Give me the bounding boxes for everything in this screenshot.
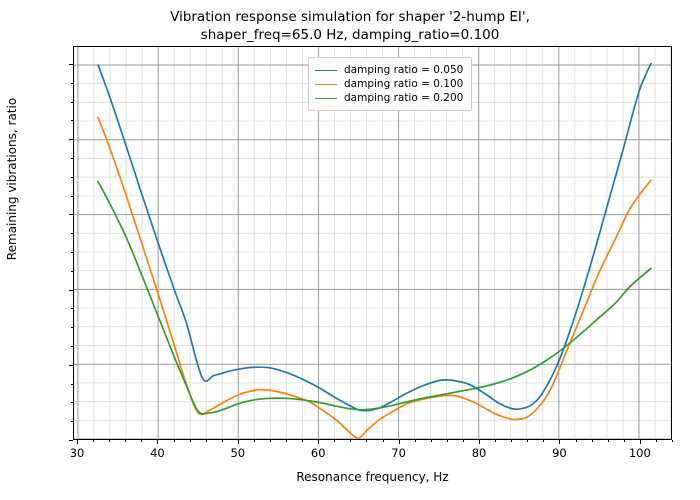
- x-major-tick: [157, 440, 158, 444]
- legend-swatch-icon: [315, 70, 337, 71]
- x-minor-tick: [495, 440, 496, 442]
- x-minor-tick: [93, 440, 94, 442]
- x-major-tick: [640, 440, 641, 444]
- x-minor-tick: [447, 440, 448, 442]
- x-minor-tick: [463, 440, 464, 442]
- legend-item-1[interactable]: damping ratio = 0.100: [315, 77, 463, 91]
- x-tick-label: 50: [208, 446, 268, 460]
- x-minor-tick: [543, 440, 544, 442]
- x-minor-tick: [174, 440, 175, 442]
- x-minor-tick: [672, 440, 673, 442]
- legend-swatch-icon: [315, 84, 337, 85]
- x-minor-tick: [576, 440, 577, 442]
- y-axis-label: Remaining vibrations, ratio: [5, 0, 19, 379]
- x-minor-tick: [624, 440, 625, 442]
- x-tick-label: 30: [47, 446, 107, 460]
- x-minor-tick: [592, 440, 593, 442]
- legend-swatch-icon: [315, 98, 337, 99]
- chart-figure: Vibration response simulation for shaper…: [0, 0, 700, 500]
- x-minor-tick: [431, 440, 432, 442]
- legend-label: damping ratio = 0.050: [344, 64, 463, 76]
- x-minor-tick: [206, 440, 207, 442]
- x-major-tick: [238, 440, 239, 444]
- x-minor-tick: [608, 440, 609, 442]
- x-major-tick: [318, 440, 319, 444]
- x-minor-tick: [383, 440, 384, 442]
- x-minor-tick: [190, 440, 191, 442]
- legend-item-0[interactable]: damping ratio = 0.050: [315, 63, 463, 77]
- x-minor-tick: [125, 440, 126, 442]
- x-tick-label: 60: [288, 446, 348, 460]
- x-minor-tick: [415, 440, 416, 442]
- x-tick-label: 70: [369, 446, 429, 460]
- chart-legend: damping ratio = 0.050damping ratio = 0.1…: [308, 57, 472, 111]
- x-tick-label: 80: [449, 446, 509, 460]
- x-tick-label: 100: [610, 446, 670, 460]
- legend-label: damping ratio = 0.200: [344, 92, 463, 104]
- x-minor-tick: [222, 440, 223, 442]
- x-minor-tick: [141, 440, 142, 442]
- series-line-2: [98, 182, 651, 414]
- x-tick-label: 40: [127, 446, 187, 460]
- x-minor-tick: [334, 440, 335, 442]
- series-line-0: [98, 63, 651, 410]
- legend-label: damping ratio = 0.100: [344, 78, 463, 90]
- x-major-tick: [77, 440, 78, 444]
- x-major-tick: [559, 440, 560, 444]
- x-minor-tick: [302, 440, 303, 442]
- x-minor-tick: [270, 440, 271, 442]
- x-minor-tick: [109, 440, 110, 442]
- x-tick-label: 90: [529, 446, 589, 460]
- x-minor-tick: [286, 440, 287, 442]
- x-minor-tick: [254, 440, 255, 442]
- x-major-tick: [479, 440, 480, 444]
- y-major-tick: [69, 440, 73, 441]
- x-minor-tick: [511, 440, 512, 442]
- x-major-tick: [399, 440, 400, 444]
- x-axis-label: Resonance frequency, Hz: [73, 470, 672, 484]
- x-minor-tick: [366, 440, 367, 442]
- legend-item-2[interactable]: damping ratio = 0.200: [315, 91, 463, 105]
- x-minor-tick: [656, 440, 657, 442]
- x-minor-tick: [350, 440, 351, 442]
- x-minor-tick: [527, 440, 528, 442]
- series-line-1: [98, 117, 651, 438]
- chart-title: Vibration response simulation for shaper…: [0, 8, 700, 44]
